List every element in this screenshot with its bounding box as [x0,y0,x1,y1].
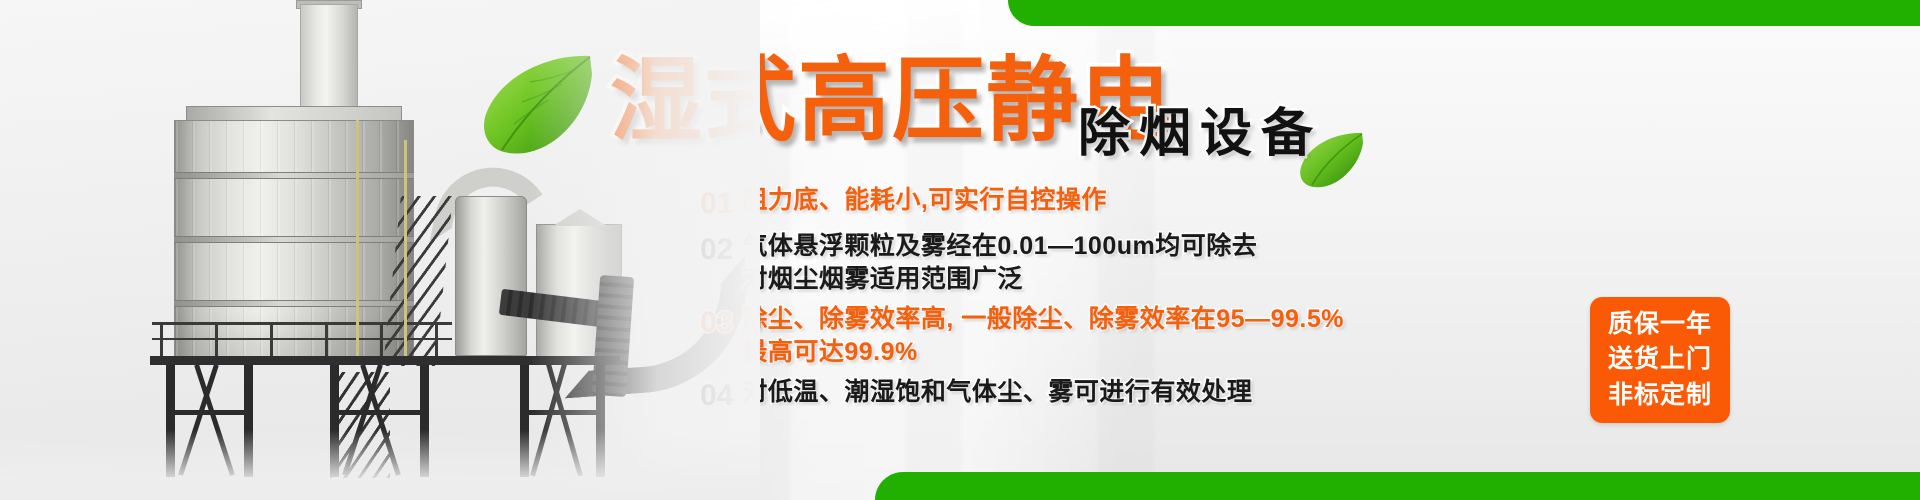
feature-body: 气体悬浮颗粒及雾经在0.01—100um均可除去 对烟尘烟雾适用范围广泛 [742,230,1257,297]
feature-item: 01 阻力底、能耗小,可实行自控操作 [700,184,1300,224]
badge-line-warranty: 质保一年 [1608,307,1712,343]
feature-body: 除尘、除雾效率高, 一般除尘、除雾效率在95—99.5% 最高可达99.9% [742,303,1344,370]
photo-right-fade [530,0,760,500]
feature-line: 对烟尘烟雾适用范围广泛 [742,263,1257,297]
badge-line-custom: 非标定制 [1608,378,1712,414]
yellow-pipe [356,120,359,356]
feature-line: 除尘、除雾效率高, 一般除尘、除雾效率在95—99.5% [742,303,1344,337]
rail-post [160,322,163,358]
tower-band [174,300,414,307]
rail-post [325,322,328,358]
tower-band [174,236,414,243]
secondary-tower [455,196,527,356]
feature-list: 01 阻力底、能耗小,可实行自控操作 02 气体悬浮颗粒及雾经在0.01—100… [700,184,1300,417]
banner-title-sub: 除烟设备 [1078,108,1322,160]
feature-line: 对低温、潮湿饱和气体尘、雾可进行有效处理 [742,376,1252,410]
feature-line: 气体悬浮颗粒及雾经在0.01—100um均可除去 [742,230,1257,264]
photo-bottom-fade [0,430,760,500]
rail-post [215,322,218,358]
feature-line: 阻力底、能耗小,可实行自控操作 [742,184,1106,218]
guarantee-badge: 质保一年 送货上门 非标定制 [1590,297,1730,423]
feature-item: 03 除尘、除雾效率高, 一般除尘、除雾效率在95—99.5% 最高可达99.9… [700,303,1300,370]
equipment-photo [0,0,760,500]
feature-body: 对低温、潮湿饱和气体尘、雾可进行有效处理 [742,376,1252,410]
promo-banner: 湿式高压静电 除烟设备 01 阻力底、能耗小,可实行自控操作 02 气体悬浮颗粒… [0,0,1920,500]
green-bar-bottom [875,472,1920,500]
badge-line-delivery: 送货上门 [1608,342,1712,378]
green-bar-top [1008,0,1920,26]
feature-line: 最高可达99.9% [742,336,1344,370]
rail-post [270,322,273,358]
rail-post [380,322,383,358]
tower-band [174,172,414,179]
yellow-pipe [404,140,407,356]
feature-item: 02 气体悬浮颗粒及雾经在0.01—100um均可除去 对烟尘烟雾适用范围广泛 [700,230,1300,297]
feature-body: 阻力底、能耗小,可实行自控操作 [742,184,1106,218]
feature-item: 04 对低温、潮湿饱和气体尘、雾可进行有效处理 [700,376,1300,416]
